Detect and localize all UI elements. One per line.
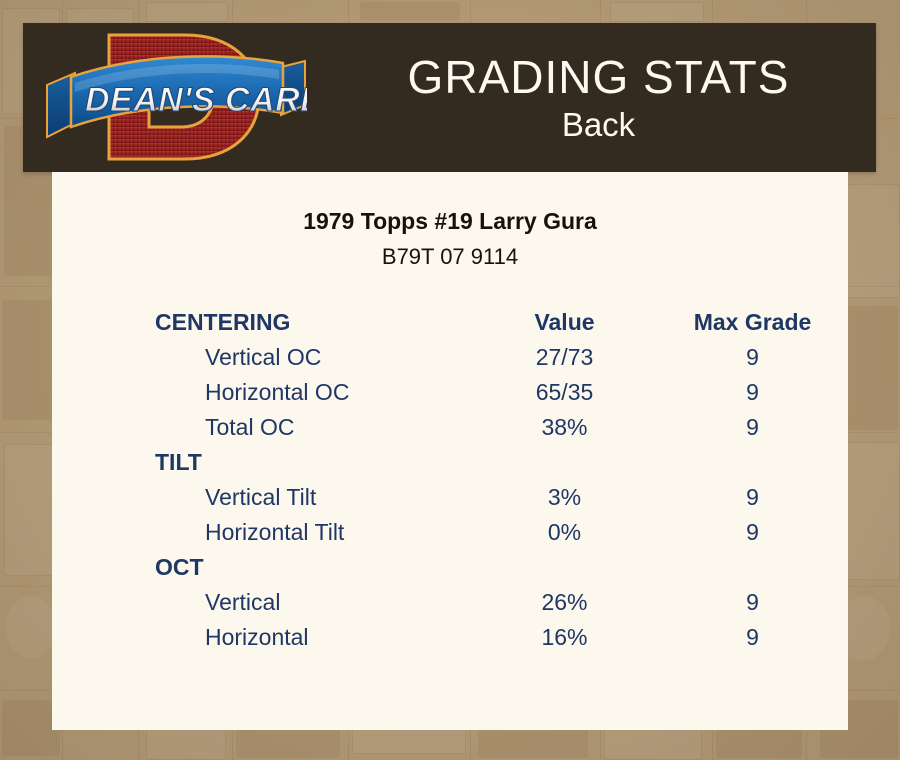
row-value: 26% [472, 585, 657, 620]
row-max-grade: 9 [657, 620, 848, 655]
row-label: Vertical Tilt [52, 480, 472, 515]
section-header-label: TILT [52, 445, 472, 480]
table-body: Vertical OC27/739Horizontal OC65/359Tota… [52, 340, 848, 655]
row-label: Vertical [52, 585, 472, 620]
table-row: Vertical26%9 [52, 585, 848, 620]
column-header-value: Value [472, 302, 657, 340]
row-value: 38% [472, 410, 657, 445]
page-subtitle: Back [562, 105, 635, 145]
row-value: 65/35 [472, 375, 657, 410]
row-label: Horizontal [52, 620, 472, 655]
table-row: Vertical Tilt3%9 [52, 480, 848, 515]
table-row: Horizontal16%9 [52, 620, 848, 655]
deans-cards-logo: DEAN'S CARDS [45, 27, 307, 167]
row-label: Total OC [52, 410, 472, 445]
row-label: Horizontal OC [52, 375, 472, 410]
table-row: Horizontal Tilt0%9 [52, 515, 848, 550]
section-header-row: TILT [52, 445, 848, 480]
table-row: Vertical OC27/739 [52, 340, 848, 375]
table-row: Total OC38%9 [52, 410, 848, 445]
table-header: CENTERING Value Max Grade [52, 302, 848, 340]
grading-stats-table: CENTERING Value Max Grade Vertical OC27/… [52, 302, 848, 655]
row-value: 16% [472, 620, 657, 655]
row-max-grade: 9 [657, 515, 848, 550]
section-header-row: OCT [52, 550, 848, 585]
content-panel: 1979 Topps #19 Larry Gura B79T 07 9114 C… [52, 172, 848, 730]
row-value: 3% [472, 480, 657, 515]
card-title: 1979 Topps #19 Larry Gura [52, 208, 848, 235]
page-header: DEAN'S CARDS GRADING STATS Back [23, 23, 876, 172]
card-code: B79T 07 9114 [52, 244, 848, 270]
column-header-centering: CENTERING [52, 302, 472, 340]
section-header-label: OCT [52, 550, 472, 585]
table-row: Horizontal OC65/359 [52, 375, 848, 410]
row-max-grade: 9 [657, 375, 848, 410]
row-value: 27/73 [472, 340, 657, 375]
row-label: Horizontal Tilt [52, 515, 472, 550]
page-title: GRADING STATS [408, 51, 790, 103]
row-max-grade: 9 [657, 410, 848, 445]
row-max-grade: 9 [657, 585, 848, 620]
row-value: 0% [472, 515, 657, 550]
row-label: Vertical OC [52, 340, 472, 375]
svg-text:DEAN'S CARDS: DEAN'S CARDS [85, 81, 307, 119]
row-max-grade: 9 [657, 340, 848, 375]
row-max-grade: 9 [657, 480, 848, 515]
column-header-max-grade: Max Grade [657, 302, 848, 340]
